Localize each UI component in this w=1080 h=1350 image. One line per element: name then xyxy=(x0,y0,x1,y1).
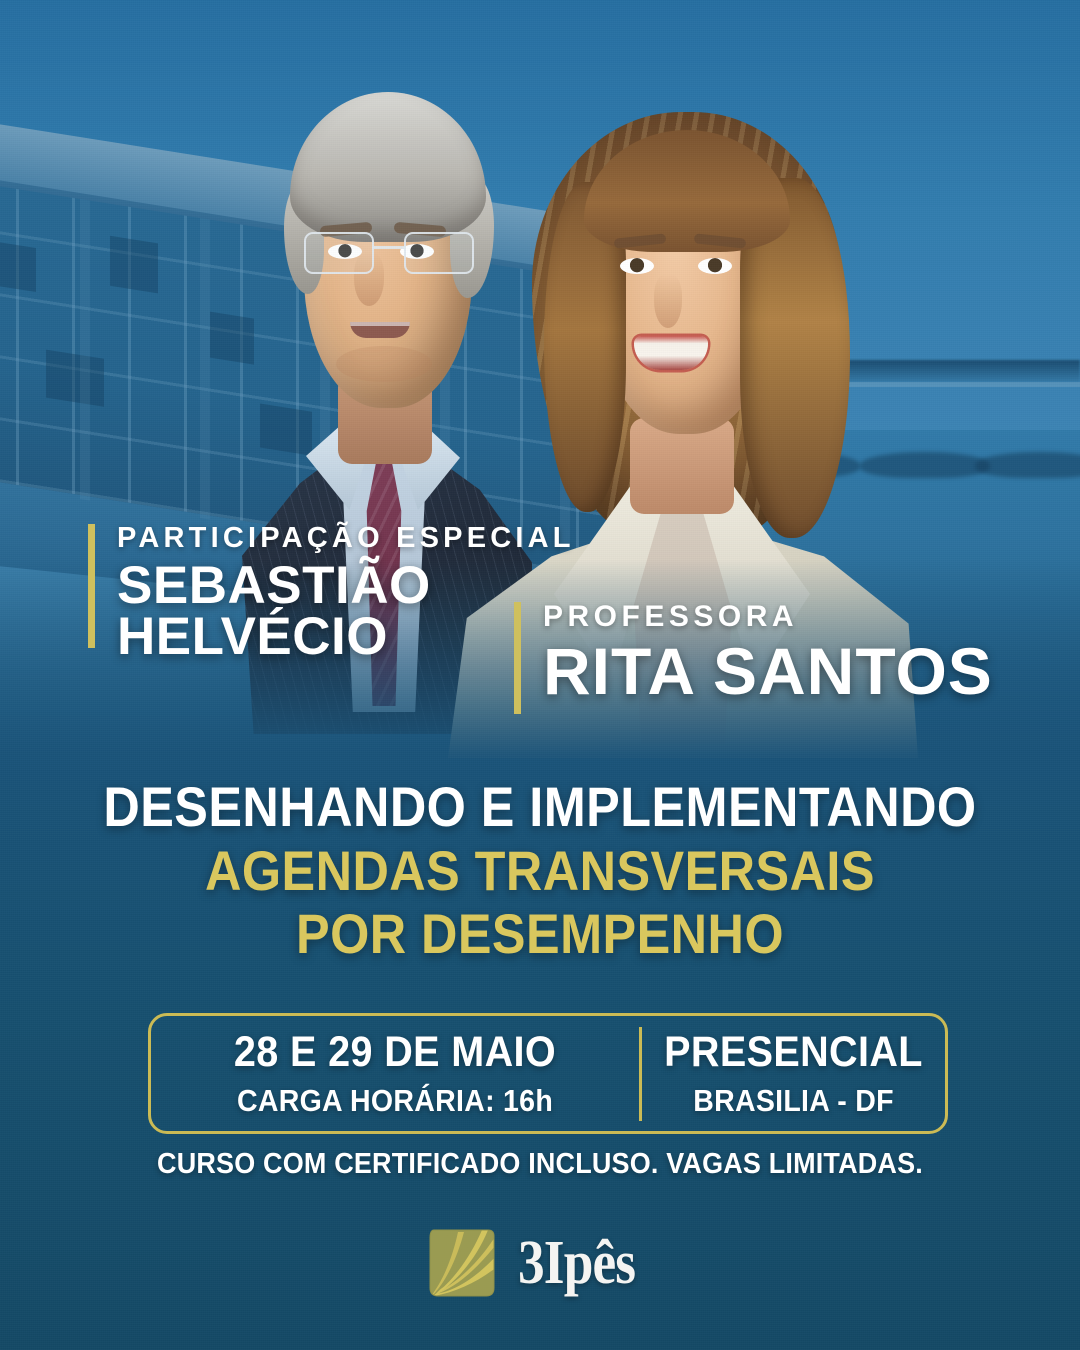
event-workload: CARGA HORÁRIA: 16h xyxy=(171,1085,620,1116)
event-title: DESENHANDO E IMPLEMENTANDO AGENDAS TRANS… xyxy=(0,778,1080,963)
speaker-right-name: RITA SANTOS xyxy=(543,640,993,703)
title-line-1: DESENHANDO E IMPLEMENTANDO xyxy=(54,778,1026,836)
speaker-block-left: PARTICIPAÇÃO ESPECIAL SEBASTIÃO HELVÉCIO xyxy=(88,524,575,648)
speaker-right-role: PROFESSORA xyxy=(543,602,993,632)
event-location: BRASILIA - DF xyxy=(654,1085,933,1116)
title-line-2: AGENDAS TRANSVERSAIS xyxy=(54,842,1026,900)
accent-bar-right xyxy=(514,602,521,714)
event-format: PRESENCIAL xyxy=(654,1031,933,1074)
speaker-left-text: PARTICIPAÇÃO ESPECIAL SEBASTIÃO HELVÉCIO xyxy=(95,524,575,648)
speaker-left-name-line1: SEBASTIÃO xyxy=(117,561,575,612)
logo-wordmark: 3Ipês xyxy=(518,1232,635,1294)
certificate-note: CURSO COM CERTIFICADO INCLUSO. VAGAS LIM… xyxy=(38,1148,1042,1181)
poster-content: PARTICIPAÇÃO ESPECIAL SEBASTIÃO HELVÉCIO… xyxy=(0,0,1080,1350)
speaker-left-role: PARTICIPAÇÃO ESPECIAL xyxy=(117,524,575,553)
event-poster: PARTICIPAÇÃO ESPECIAL SEBASTIÃO HELVÉCIO… xyxy=(0,0,1080,1350)
speaker-block-right: PROFESSORA RITA SANTOS xyxy=(514,602,993,714)
speaker-left-name-line2: HELVÉCIO xyxy=(117,612,575,663)
event-format-column: PRESENCIAL BRASILIA - DF xyxy=(642,1031,945,1116)
event-details-box: 28 E 29 DE MAIO CARGA HORÁRIA: 16h PRESE… xyxy=(148,1013,948,1134)
speaker-right-text: PROFESSORA RITA SANTOS xyxy=(521,602,993,714)
event-date-column: 28 E 29 DE MAIO CARGA HORÁRIA: 16h xyxy=(151,1031,639,1116)
event-date: 28 E 29 DE MAIO xyxy=(171,1031,620,1074)
title-line-3: POR DESEMPENHO xyxy=(54,905,1026,963)
accent-bar-left xyxy=(88,524,95,648)
brand-logo: 3Ipês xyxy=(0,1226,1080,1300)
fan-book-icon xyxy=(426,1226,498,1300)
